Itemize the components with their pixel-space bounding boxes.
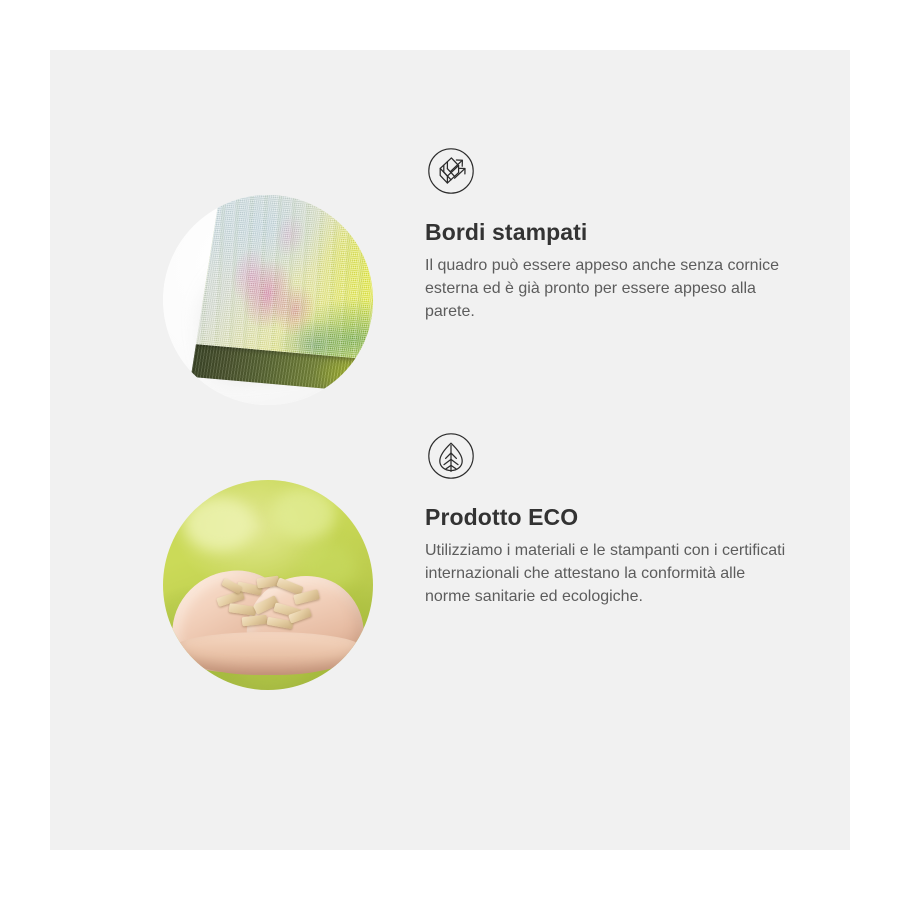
wood-chips-photo xyxy=(163,480,373,690)
canvas-edge-arrows-icon xyxy=(425,145,477,197)
product-feature-page: Bordi stampati Il quadro può essere appe… xyxy=(0,0,900,900)
canvas-print-block xyxy=(189,195,373,402)
cupped-hands xyxy=(167,564,369,682)
bokeh-blob xyxy=(184,497,255,552)
bokeh-blob xyxy=(272,488,335,538)
canvas-printed-face xyxy=(194,195,373,371)
content-panel: Bordi stampati Il quadro può essere appe… xyxy=(50,50,850,850)
feature-title: Bordi stampati xyxy=(425,219,805,245)
feature-text-eco-product: Prodotto ECO Utilizziamo i materiali e l… xyxy=(425,430,805,609)
feature-text-printed-edges: Bordi stampati Il quadro può essere appe… xyxy=(425,145,805,324)
leaf-icon xyxy=(425,430,477,482)
wood-chip xyxy=(221,578,242,594)
feature-description: Utilizziamo i materiali e le stampanti c… xyxy=(425,540,787,608)
feature-image-printed-edges xyxy=(163,195,373,405)
feature-printed-edges: Bordi stampati Il quadro può essere appe… xyxy=(50,145,850,405)
feature-image-eco-product xyxy=(163,480,373,690)
fingers xyxy=(175,632,360,674)
circular-image-mask xyxy=(163,195,373,405)
canvas-print-photo xyxy=(163,195,373,405)
feature-description: Il quadro può essere appeso anche senza … xyxy=(425,255,787,323)
wood-chip xyxy=(256,576,280,589)
feature-title: Prodotto ECO xyxy=(425,504,805,530)
circular-image-mask xyxy=(163,480,373,690)
wood-chip xyxy=(241,615,267,626)
feature-eco-product: Prodotto ECO Utilizziamo i materiali e l… xyxy=(50,430,850,690)
wood-chip-pile xyxy=(212,573,337,634)
